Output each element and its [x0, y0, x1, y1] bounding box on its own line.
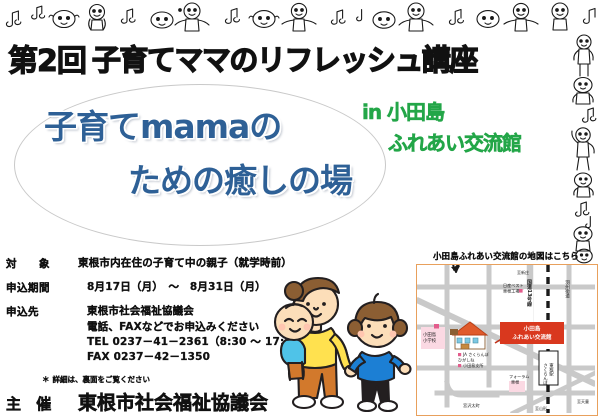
map-label-nissan: 日産ベスト — [503, 282, 524, 288]
map-pointer-arrow — [447, 264, 467, 275]
family-illustration — [264, 276, 414, 419]
main-title: 子育てmamaの ための癒しの場 — [0, 100, 420, 202]
info-target-line1: 東根市内在住の子育て中の親子（就学時前） — [78, 256, 292, 271]
info-value-target: 東根市内在住の子育て中の親子（就学時前） — [78, 256, 292, 271]
info-row-contact: 申込先 東根市社会福祉協議会 電話、FAXなどでお申込みください TEL 023… — [6, 304, 306, 365]
venue-tag: in 小田島 ふれあい交流館 — [362, 96, 521, 156]
map-section: 小田島ふれあい交流館の地図はこちら — [416, 250, 596, 416]
svg-text:小学校: 小学校 — [423, 337, 437, 344]
map-label-forum: フォーラム — [509, 373, 529, 379]
info-period-line1: 8月17日（月） ～ 8月31日（月） — [78, 280, 266, 295]
note-text: 詳細は、裏面をご覧ください — [53, 375, 151, 384]
map-graphic: さくらんぼ 東根駅 国道13号線 羽州街道 小田島 小学校 — [417, 265, 595, 413]
info-row-target: 対 象 東根市内在住の子育て中の親子（就学時前） — [6, 256, 306, 271]
map-label-ushu-kaido: 羽州街道 — [565, 280, 570, 300]
map-label-station: さくらんぼ — [543, 363, 548, 387]
map-caption: 小田島ふれあい交流館の地図はこちら — [416, 250, 596, 262]
headline: 第2回 子育てママのリフレッシュ講座 — [8, 36, 477, 80]
svg-text:東根工場: 東根工場 — [503, 288, 519, 294]
right-decorative-border — [566, 30, 600, 270]
map-venue-box-line2: ふれあい交流館 — [512, 333, 552, 341]
venue-tag-line1: in 小田島 — [362, 96, 521, 125]
venue-tag-line2: ふれあい交流館 — [388, 127, 521, 156]
info-block: 対 象 東根市内在住の子育て中の親子（就学時前） 申込期間 8月17日（月） ～… — [6, 256, 306, 415]
info-label-period: 申込期間 — [6, 280, 78, 295]
info-value-period: 8月17日（月） ～ 8月31日（月） — [78, 280, 266, 295]
map-label-to-tendo: 至天童 — [577, 398, 589, 404]
svg-text:小田島支所: 小田島支所 — [463, 362, 483, 368]
map-box: さくらんぼ 東根駅 国道13号線 羽州街道 小田島 小学校 — [416, 264, 598, 416]
info-row-period: 申込期間 8月17日（月） ～ 8月31日（月） — [6, 280, 306, 295]
map-label-ja: JA さくらんぼ — [462, 351, 489, 357]
course-title: 子育てママのリフレッシュ講座 — [92, 37, 477, 80]
map-venue-box-line1: 小田島 — [524, 325, 541, 333]
map-label-to-yamagata: 至山形 — [535, 405, 547, 411]
map-label-route13: 国道13号線 — [526, 279, 532, 308]
svg-text:ひがしね: ひがしね — [458, 357, 474, 363]
top-decorative-border — [0, 0, 600, 36]
info-label-contact: 申込先 — [6, 304, 78, 365]
map-label-school: 小田島 — [423, 331, 437, 338]
info-label-target: 対 象 — [6, 256, 78, 271]
host-row: 主 催 東根市社会福祉協議会 — [6, 388, 306, 415]
host-label: 主 催 — [6, 393, 78, 414]
edition-label: 第2回 — [8, 36, 86, 80]
svg-text:東根駅: 東根駅 — [549, 362, 554, 378]
host-name: 東根市社会福祉協議会 — [78, 388, 268, 415]
flyer-page: 第2回 子育てママのリフレッシュ講座 子育てmamaの ための癒しの場 in 小… — [0, 0, 600, 419]
map-label-miyazawa: 宮沢太町 — [463, 402, 481, 409]
note-star-icon: ＊ — [42, 375, 50, 384]
map-label-to-shinjo: 至新庄 — [517, 269, 529, 275]
svg-text:東根: 東根 — [511, 379, 519, 385]
main-title-line2: ための癒しの場 — [128, 154, 420, 202]
